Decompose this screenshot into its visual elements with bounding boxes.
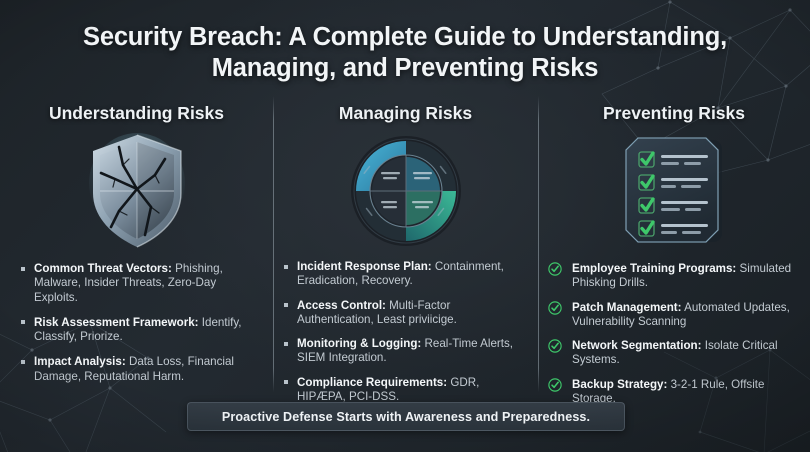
check-circle-icon [548, 262, 562, 276]
list-item-lead: Employee Training Programs: [572, 262, 736, 275]
square-bullet-icon [21, 320, 25, 324]
cracked-shield-illustration [0, 126, 273, 256]
list-item: Employee Training Programs: Simulated Ph… [550, 262, 798, 291]
square-bullet-icon [284, 265, 288, 269]
column-preventing-risks: Preventing Risks [538, 96, 810, 392]
list-item: Risk Assessment Framework: Identify, Cla… [34, 316, 260, 345]
list-item: Impact Analysis: Data Loss, Financial Da… [34, 355, 260, 384]
list-item: Patch Management: Automated Updates, Vul… [550, 301, 798, 330]
bullet-list-understanding: Common Threat Vectors: Phishing, Malware… [34, 262, 260, 384]
list-item-lead: Backup Strategy: [572, 378, 667, 391]
page-title: Security Breach: A Complete Guide to Und… [50, 22, 760, 84]
list-item-lead: Compliance Requirements: [297, 376, 447, 389]
bullet-list-managing: Incident Response Plan: Containment, Era… [297, 260, 529, 404]
list-item-lead: Incident Response Plan: [297, 260, 432, 273]
list-item-lead: Network Segmentation: [572, 339, 701, 352]
list-item-lead: Patch Management: [572, 301, 682, 314]
square-bullet-icon [284, 342, 288, 346]
footer-banner: Proactive Defense Starts with Awareness … [187, 402, 625, 431]
list-item-lead: Monitoring & Logging: [297, 337, 421, 350]
circular-quadrant-diagram-illustration [273, 126, 538, 256]
list-item-lead: Risk Assessment Framework: [34, 316, 199, 329]
check-circle-icon [548, 339, 562, 353]
page-title-line-2: Managing, and Preventing Risks [50, 53, 760, 84]
checklist-card-illustration [538, 126, 810, 256]
list-item-lead: Impact Analysis: [34, 355, 126, 368]
list-item-lead: Common Threat Vectors: [34, 262, 172, 275]
footer-banner-text: Proactive Defense Starts with Awareness … [222, 410, 590, 424]
page-title-line-1: Security Breach: A Complete Guide to Und… [83, 23, 727, 51]
column-heading: Preventing Risks [538, 96, 810, 124]
list-item: Common Threat Vectors: Phishing, Malware… [34, 262, 260, 305]
infographic-canvas: Security Breach: A Complete Guide to Und… [0, 0, 810, 452]
bullet-list-preventing: Employee Training Programs: Simulated Ph… [550, 262, 798, 406]
check-circle-icon [548, 378, 562, 392]
column-managing-risks: Managing Risks [273, 96, 538, 392]
list-item: Compliance Requirements: GDR, HIPÆPA, PC… [297, 376, 529, 405]
square-bullet-icon [21, 360, 25, 364]
list-item-lead: Access Control: [297, 299, 386, 312]
column-heading: Managing Risks [273, 96, 538, 124]
column-understanding-risks: Understanding Risks [0, 96, 273, 392]
list-item: Network Segmentation: Isolate Critical S… [550, 339, 798, 368]
columns-container: Understanding Risks [0, 96, 810, 392]
list-item: Monitoring & Logging: Real-Time Alerts, … [297, 337, 529, 366]
column-heading: Understanding Risks [0, 96, 273, 124]
check-circle-icon [548, 301, 562, 315]
square-bullet-icon [284, 303, 288, 307]
square-bullet-icon [21, 267, 25, 271]
square-bullet-icon [284, 380, 288, 384]
list-item: Incident Response Plan: Containment, Era… [297, 260, 529, 289]
list-item: Access Control: Multi-Factor Authenticat… [297, 299, 529, 328]
